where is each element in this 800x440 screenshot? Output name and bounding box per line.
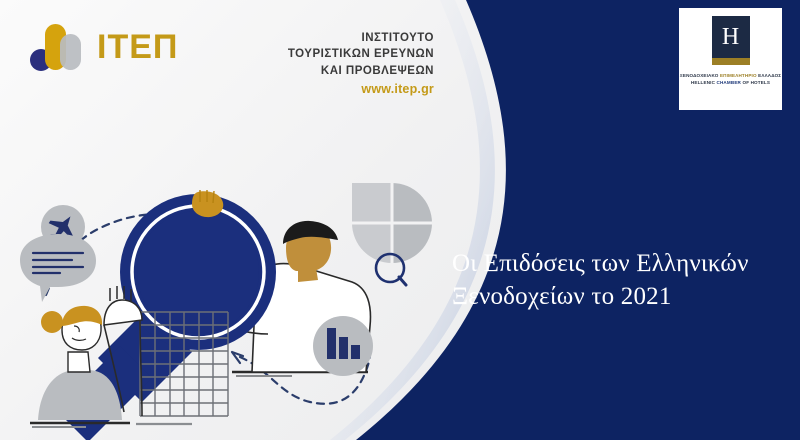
chamber-greek-name: ΞΕΝΟΔΟΧΕΙΑΚΟ ΕΠΙΜΕΛΗΤΗΡΙΟ ΕΛΛΑΔΟΣ — [680, 72, 781, 79]
speech-bubble-badge — [20, 234, 96, 302]
itep-logo-wordmark: ITEΠ — [97, 30, 178, 64]
logo-grey-pill — [60, 34, 81, 70]
chamber-english-part-1: HELLENIC — [691, 80, 717, 85]
itep-logo-mark — [30, 22, 88, 72]
hellenic-chamber-of-hotels-badge: H ΞΕΝΟΔΟΧΕΙΑΚΟ ΕΠΙΜΕΛΗΤΗΡΙΟ ΕΛΛΑΔΟΣ HELL… — [679, 8, 782, 110]
chamber-greek-part-3: ΕΛΛΑΔΟΣ — [758, 73, 781, 78]
presentation-slide: ITEΠ ΙΝΣΤΙΤΟΥΤΟ ΤΟΥΡΙΣΤΙΚΩΝ ΕΡΕΥΝΩΝ ΚΑΙ … — [0, 0, 800, 440]
subtitle-line-2: ΤΟΥΡΙΣΤΙΚΩΝ ΕΡΕΥΝΩΝ — [288, 46, 434, 62]
pie-chart — [352, 183, 432, 263]
chamber-h-letter: H — [722, 25, 739, 49]
bar-2 — [339, 337, 348, 359]
bar-3 — [351, 345, 360, 359]
slide-title-line-2: Ξενοδοχείων το 2021 — [452, 281, 788, 314]
slide-title-line-1: Οι Επιδόσεις των Ελληνικών — [452, 248, 788, 281]
itep-logo: ITEΠ — [30, 22, 178, 72]
chamber-greek-part-1: ΞΕΝΟΔΟΧΕΙΑΚΟ — [680, 73, 720, 78]
chamber-h-mark: H — [712, 16, 750, 58]
institute-subtitle: ΙΝΣΤΙΤΟΥΤΟ ΤΟΥΡΙΣΤΙΚΩΝ ΕΡΕΥΝΩΝ ΚΑΙ ΠΡΟΒΛ… — [288, 30, 434, 96]
bar-chart-badge — [313, 316, 373, 376]
hero-illustration — [0, 120, 470, 440]
ground-lines — [30, 423, 192, 427]
bar-1 — [327, 328, 336, 359]
chamber-english-part-2: CHAMBER — [717, 80, 743, 85]
itep-website-url[interactable]: www.itep.gr — [288, 82, 434, 96]
chamber-gold-bar — [712, 58, 750, 65]
subtitle-line-3: ΚΑΙ ΠΡΟΒΛΕΨΕΩΝ — [288, 63, 434, 79]
slide-title: Οι Επιδόσεις των Ελληνικών Ξενοδοχείων τ… — [452, 248, 788, 313]
subtitle-line-1: ΙΝΣΤΙΤΟΥΤΟ — [288, 30, 434, 46]
chamber-english-name: HELLENIC CHAMBER OF HOTELS — [691, 79, 770, 86]
chamber-english-part-3: OF HOTELS — [742, 80, 770, 85]
chamber-greek-part-2: ΕΠΙΜΕΛΗΤΗΡΙΟ — [720, 73, 758, 78]
